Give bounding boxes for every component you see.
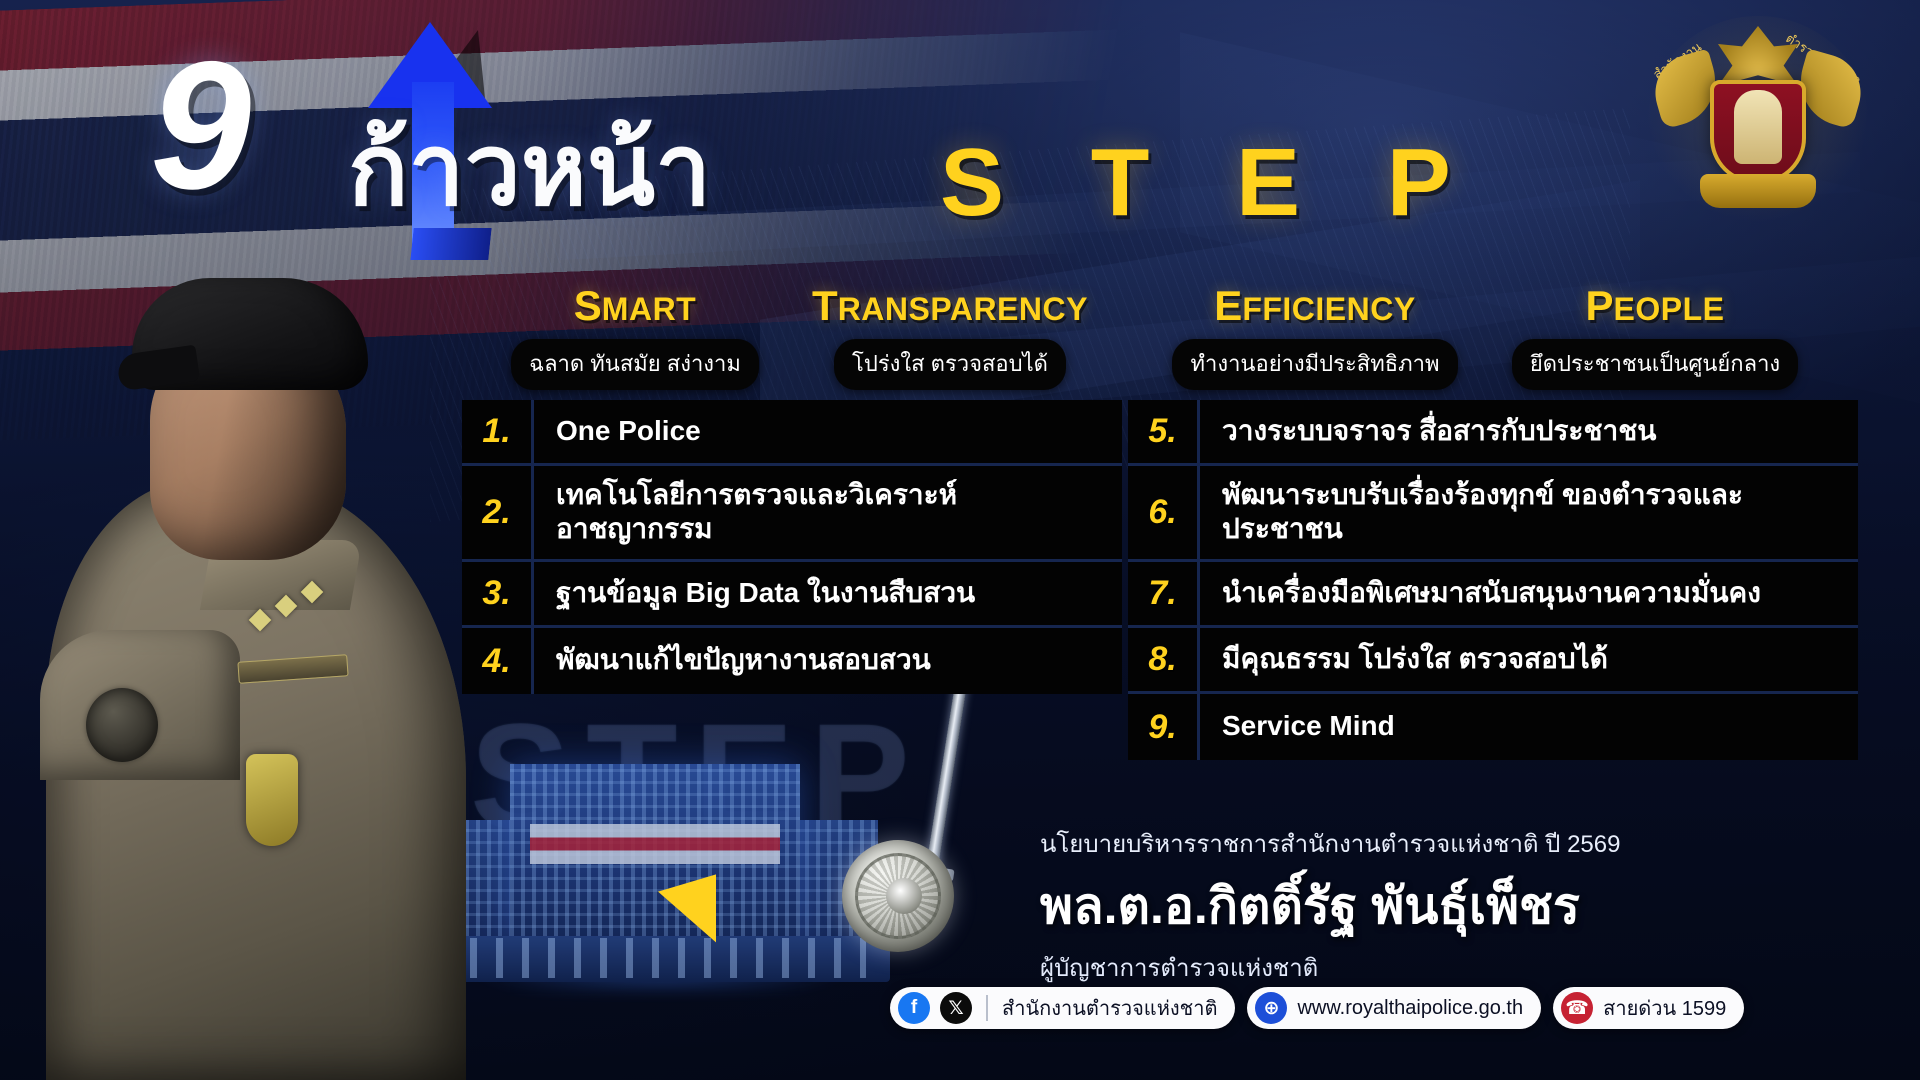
item-number: 9. (1128, 694, 1200, 760)
step-pill-people: ยึดประชาชนเป็นศูนย์กลาง (1512, 339, 1798, 390)
step-word-rest: RANSPARENCY (838, 291, 1088, 327)
item-text: มีคุณธรรม โปร่งใส ตรวจสอบได้ (1200, 628, 1858, 691)
item-number: 8. (1128, 628, 1200, 691)
step-columns: SMART ฉลาด ทันสมัย สง่างาม TRANSPARENCY … (470, 282, 1830, 382)
commissioner-position: ผู้บัญชาการตำรวจแห่งชาติ (1040, 948, 1740, 987)
item-number: 2. (462, 466, 534, 559)
step-pill-smart: ฉลาด ทันสมัย สง่างาม (511, 339, 759, 390)
item-number: 7. (1128, 562, 1200, 625)
item-text: พัฒนาแก้ไขปัญหางานสอบสวน (534, 628, 1122, 694)
chest-badge (246, 754, 298, 846)
item-text: เทคโนโลยีการตรวจและวิเคราะห์ อาชญากรรม (534, 466, 1122, 559)
step-cap-letter: S (574, 282, 602, 329)
item-number: 1. (462, 400, 534, 463)
headline-thai-title: ก้าวหน้า (348, 90, 711, 249)
table-row: 6. พัฒนาระบบรับเรื่องร้องทุกข์ ของตำรวจแ… (1128, 466, 1858, 562)
table-row: 9. Service Mind (1128, 694, 1858, 760)
headline-number: 9 (150, 20, 243, 230)
item-text: พัฒนาระบบรับเรื่องร้องทุกข์ ของตำรวจและป… (1200, 466, 1858, 559)
table-row: 7. นำเครื่องมือพิเศษมาสนับสนุนงานความมั่… (1128, 562, 1858, 628)
royal-thai-police-emblem: สำนักงาน ตำรวจแห่งชาติ (1648, 16, 1868, 226)
table-row: 8. มีคุณธรรม โปร่งใส ตรวจสอบได้ (1128, 628, 1858, 694)
social-group[interactable]: f 𝕏 สำนักงานตำรวจแห่งชาติ (890, 987, 1235, 1029)
hotline-group[interactable]: ☎ สายด่วน 1599 (1553, 987, 1744, 1029)
table-row: 4. พัฒนาแก้ไขปัญหางานสอบสวน (462, 628, 1122, 694)
item-number: 4. (462, 628, 534, 694)
step-column-smart: SMART ฉลาด ทันสมัย สง่างาม (470, 282, 800, 390)
shoulder-patch (86, 688, 158, 762)
item-number: 3. (462, 562, 534, 625)
beret-icon (132, 278, 368, 390)
item-text: วางระบบจราจร สื่อสารกับประชาชน (1200, 400, 1858, 463)
item-text: Service Mind (1200, 694, 1858, 760)
step-word-rest: EOPLE (1614, 291, 1725, 327)
x-twitter-icon[interactable]: 𝕏 (940, 992, 972, 1024)
item-text: นำเครื่องมือพิเศษมาสนับสนุนงานความมั่นคง (1200, 562, 1858, 625)
phone-icon: ☎ (1561, 992, 1593, 1024)
hotline-number: สายด่วน 1599 (1603, 992, 1726, 1024)
contact-bar: f 𝕏 สำนักงานตำรวจแห่งชาติ ⊕ www.royaltha… (890, 985, 1756, 1031)
step-cap-letter: P (1586, 282, 1614, 329)
policy-list-right: 5. วางระบบจราจร สื่อสารกับประชาชน 6. พัฒ… (1128, 400, 1858, 760)
policy-list-left: 1. One Police 2. เทคโนโลยีการตรวจและวิเค… (462, 400, 1122, 694)
step-pill-efficiency: ทำงานอย่างมีประสิทธิภาพ (1172, 339, 1457, 390)
social-label: สำนักงานตำรวจแห่งชาติ (1002, 992, 1217, 1024)
step-pill-transparency: โปร่งใส ตรวจสอบได้ (834, 339, 1066, 390)
step-word-rest: MART (602, 291, 696, 327)
website-group[interactable]: ⊕ www.royalthaipolice.go.th (1247, 987, 1541, 1029)
divider (986, 995, 988, 1021)
table-row: 5. วางระบบจราจร สื่อสารกับประชาชน (1128, 400, 1858, 466)
table-row: 3. ฐานข้อมูล Big Data ในงานสืบสวน (462, 562, 1122, 628)
step-cap-letter: T (812, 282, 838, 329)
police-headquarters-building (420, 742, 890, 1002)
commissioner-name: พล.ต.อ.กิตติ์รัฐ พันธุ์เพ็ชร (1040, 867, 1740, 946)
step-cap-letter: E (1214, 282, 1242, 329)
step-column-people: PEOPLE ยึดประชาชนเป็นศูนย์กลาง (1480, 282, 1830, 390)
ceremonial-sword (848, 670, 988, 950)
table-row: 2. เทคโนโลยีการตรวจและวิเคราะห์ อาชญากรร… (462, 466, 1122, 562)
step-wordmark: S T E P (940, 128, 1481, 238)
website-url[interactable]: www.royalthaipolice.go.th (1297, 997, 1523, 1020)
footer-attribution: นโยบายบริหารราชการสำนักงานตำรวจแห่งชาติ … (1040, 824, 1740, 987)
item-number: 6. (1128, 466, 1200, 559)
facebook-icon[interactable]: f (898, 992, 930, 1024)
step-column-transparency: TRANSPARENCY โปร่งใส ตรวจสอบได้ (760, 282, 1140, 390)
item-number: 5. (1128, 400, 1200, 463)
item-text: One Police (534, 400, 1122, 463)
step-column-efficiency: EFFICIENCY ทำงานอย่างมีประสิทธิภาพ (1120, 282, 1510, 390)
globe-icon: ⊕ (1255, 992, 1287, 1024)
infographic-canvas: STEP 9 ก้าว (0, 0, 1920, 1080)
step-word-rest: FFICIENCY (1242, 291, 1415, 327)
table-row: 1. One Police (462, 400, 1122, 466)
policy-line: นโยบายบริหารราชการสำนักงานตำรวจแห่งชาติ … (1040, 824, 1740, 863)
item-text: ฐานข้อมูล Big Data ในงานสืบสวน (534, 562, 1122, 625)
police-officer-photo (0, 270, 480, 1080)
